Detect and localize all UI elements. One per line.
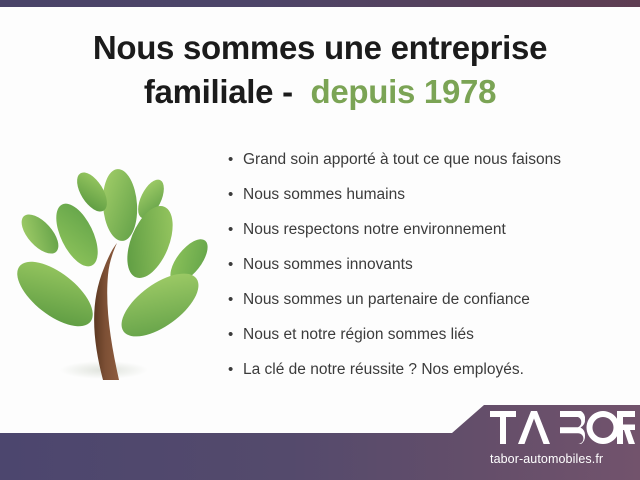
list-item: • Nous sommes humains [228, 183, 628, 218]
bullet-marker-icon: • [228, 358, 243, 382]
list-item-label: Nous sommes humains [243, 183, 405, 207]
bullet-marker-icon: • [228, 218, 243, 242]
logo-tagline: tabor-automobiles.fr [490, 452, 635, 466]
headline-line-2-black: familiale - [144, 73, 311, 110]
value-bullet-list: • Grand soin apporté à tout ce que nous … [228, 148, 628, 393]
bullet-marker-icon: • [228, 253, 243, 277]
list-item-label: Nous sommes un partenaire de confiance [243, 288, 530, 312]
footer-bar: tabor-automobiles.fr [0, 405, 640, 480]
tree-illustration [8, 142, 220, 390]
list-item: • Nous sommes innovants [228, 253, 628, 288]
list-item-label: Nous sommes innovants [243, 253, 413, 277]
top-accent-bar [0, 0, 640, 7]
logo-wordmark-icon [490, 411, 635, 445]
page-title: Nous sommes une entreprise familiale - d… [0, 26, 640, 114]
headline-line-2-accent: depuis 1978 [311, 73, 497, 110]
bullet-marker-icon: • [228, 183, 243, 207]
headline-line-1: Nous sommes une entreprise [0, 26, 640, 70]
list-item-label: Grand soin apporté à tout ce que nous fa… [243, 148, 561, 172]
list-item: • Nous respectons notre environnement [228, 218, 628, 253]
tree-icon [8, 142, 220, 390]
tree-trunk [94, 243, 119, 380]
slide-canvas: Nous sommes une entreprise familiale - d… [0, 0, 640, 480]
bullet-marker-icon: • [228, 148, 243, 172]
list-item-label: Nous respectons notre environnement [243, 218, 506, 242]
headline-line-2: familiale - depuis 1978 [0, 70, 640, 114]
list-item: • Nous sommes un partenaire de confiance [228, 288, 628, 323]
bullet-marker-icon: • [228, 323, 243, 347]
list-item: • Grand soin apporté à tout ce que nous … [228, 148, 628, 183]
list-item-label: La clé de notre réussite ? Nos employés. [243, 358, 524, 382]
list-item: • La clé de notre réussite ? Nos employé… [228, 358, 628, 393]
list-item-label: Nous et notre région sommes liés [243, 323, 474, 347]
bullet-marker-icon: • [228, 288, 243, 312]
brand-logo[interactable]: tabor-automobiles.fr [490, 411, 635, 466]
list-item: • Nous et notre région sommes liés [228, 323, 628, 358]
